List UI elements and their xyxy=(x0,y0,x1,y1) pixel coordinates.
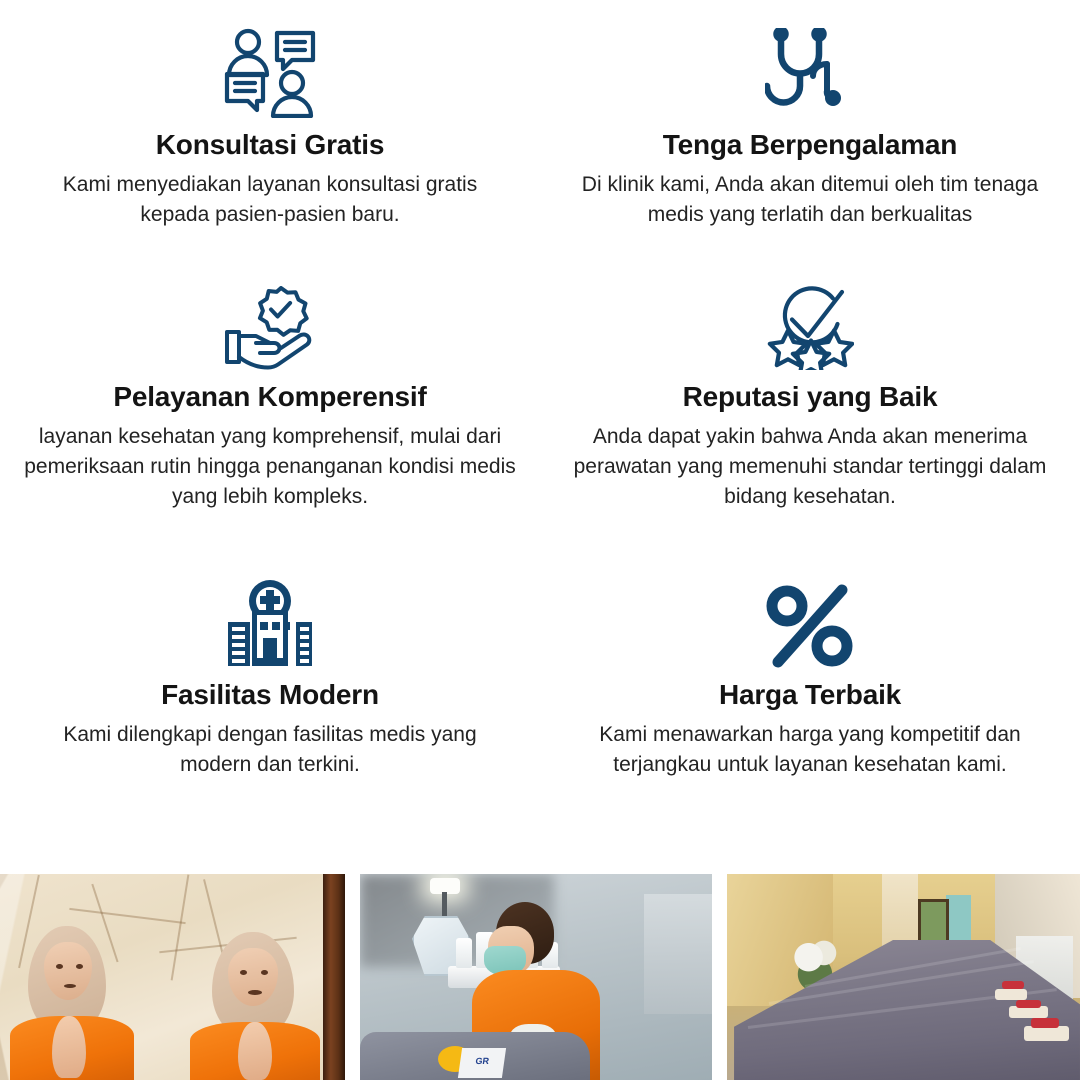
photo-two-staff-greeting xyxy=(0,874,345,1080)
feature-description: Kami menyediakan layanan konsultasi grat… xyxy=(35,170,505,230)
feature-card-fasilitas-modern: Fasilitas Modern Kami dilengkapi dengan … xyxy=(0,562,540,852)
feature-description: layanan kesehatan yang komprehensif, mul… xyxy=(22,422,518,511)
feature-grid: Konsultasi Gratis Kami menyediakan layan… xyxy=(0,0,1080,862)
consultation-people-chat-icon xyxy=(222,22,318,118)
feature-title: Fasilitas Modern xyxy=(161,678,379,711)
feature-card-tenga-berpengalaman: Tenga Berpengalaman Di klinik kami, Anda… xyxy=(540,0,1080,270)
percent-discount-icon xyxy=(764,572,856,668)
feature-page: Konsultasi Gratis Kami menyediakan layan… xyxy=(0,0,1080,1080)
feature-title: Reputasi yang Baik xyxy=(683,380,938,413)
feature-description: Di klinik kami, Anda akan ditemui oleh t… xyxy=(575,170,1045,230)
feature-card-reputasi-yang-baik: Reputasi yang Baik Anda dapat yakin bahw… xyxy=(540,270,1080,562)
feature-title: Konsultasi Gratis xyxy=(156,128,384,161)
photo-therapist-treatment: GR xyxy=(360,874,712,1080)
photo-treatment-beds-row xyxy=(727,874,1080,1080)
feature-card-pelayanan-komperensif: Pelayanan Komperensif layanan kesehatan … xyxy=(0,270,540,562)
feature-title: Pelayanan Komperensif xyxy=(113,380,426,413)
check-stars-rating-icon xyxy=(766,274,854,370)
hospital-building-icon xyxy=(224,572,316,668)
photo-strip: GR xyxy=(0,874,1080,1080)
stethoscope-icon xyxy=(765,22,855,118)
feature-card-harga-terbaik: Harga Terbaik Kami menawarkan harga yang… xyxy=(540,562,1080,852)
feature-description: Kami menawarkan harga yang kompetitif da… xyxy=(575,720,1045,780)
feature-title: Harga Terbaik xyxy=(719,678,901,711)
feature-description: Kami dilengkapi dengan fasilitas medis y… xyxy=(35,720,505,780)
feature-title: Tenga Berpengalaman xyxy=(663,128,957,161)
feature-description: Anda dapat yakin bahwa Anda akan menerim… xyxy=(562,422,1058,511)
hand-holding-badge-check-icon xyxy=(223,274,317,370)
feature-card-konsultasi-gratis: Konsultasi Gratis Kami menyediakan layan… xyxy=(0,0,540,270)
photo-badge-label: GR xyxy=(458,1048,506,1078)
